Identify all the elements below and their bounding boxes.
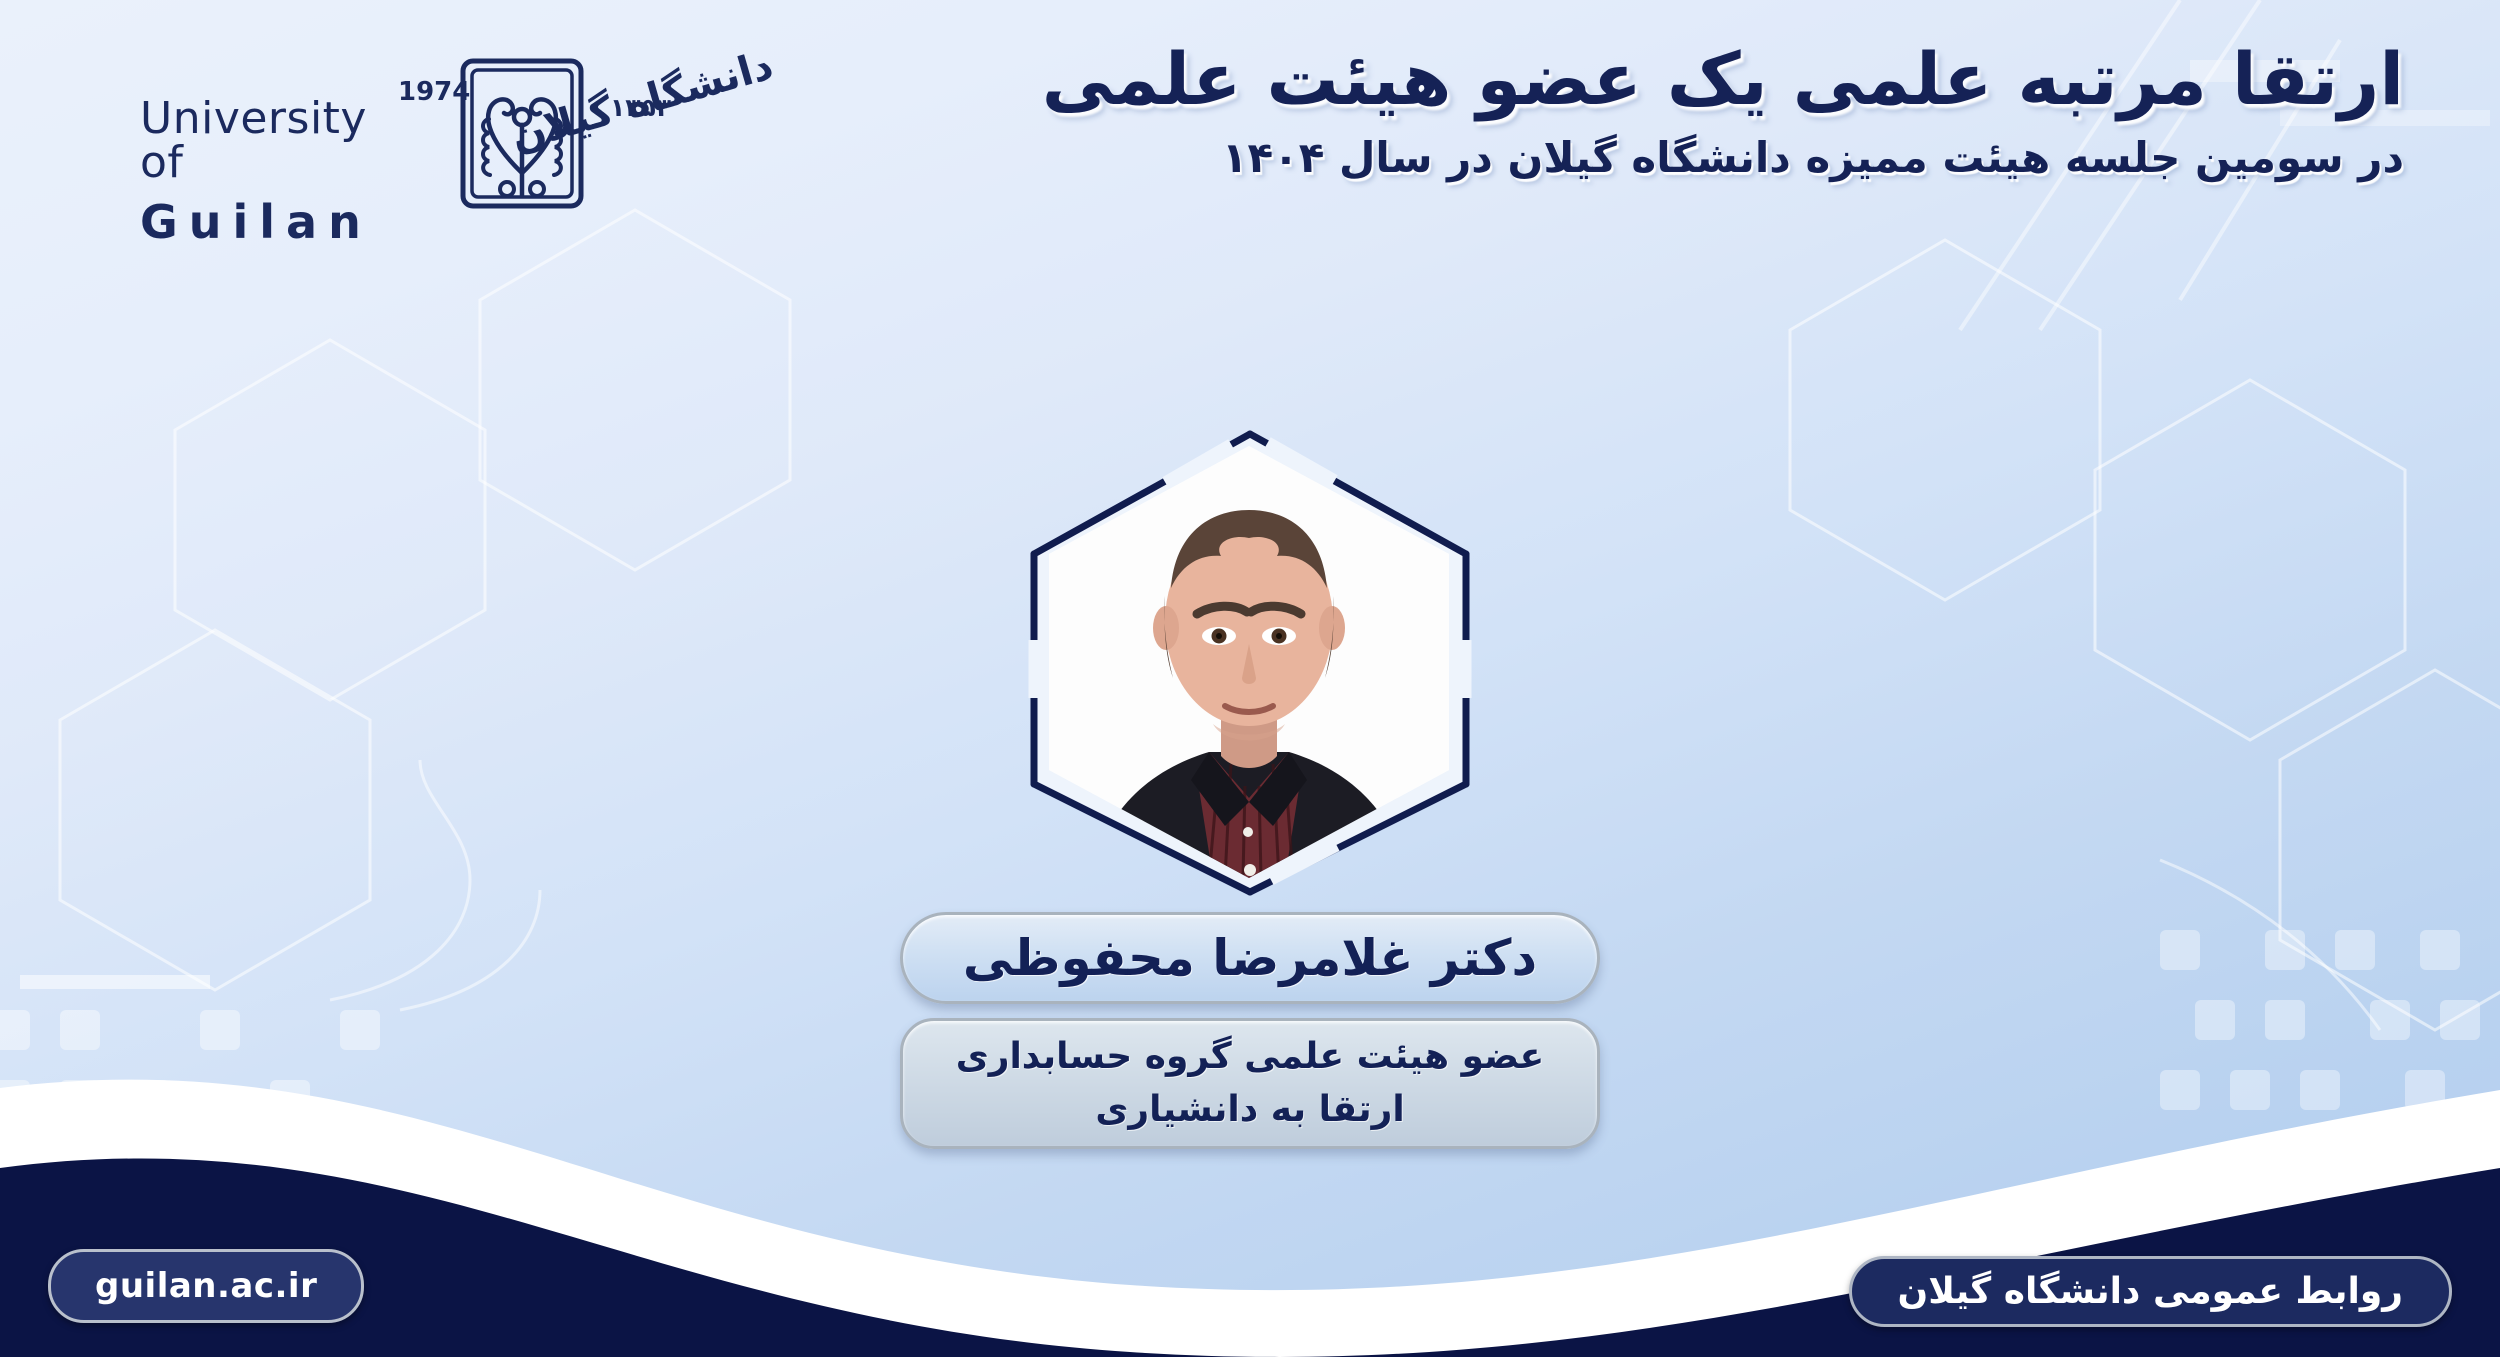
person-badges: دکتر غلامرضا محفوظی عضو هیئت علمی گروه ح…	[900, 912, 1600, 1149]
page-title: ارتقا مرتبه علمی یک عضو هیئت علمی	[924, 34, 2404, 124]
hexagon-border-icon	[1025, 428, 1475, 898]
website-url: guilan.ac.ir	[95, 1266, 317, 1306]
poster-canvas: University of Guilan 1974 ۱۳۵۳ دانشگاه گ…	[0, 0, 2500, 1357]
public-relations-badge: روابط عمومی دانشگاه گیلان	[1849, 1256, 2452, 1327]
logo-guilan-line: Guilan	[140, 199, 390, 245]
person-name-badge: دکتر غلامرضا محفوظی	[900, 912, 1600, 1004]
header-titles: ارتقا مرتبه علمی یک عضو هیئت علمی در سوم…	[924, 34, 2404, 187]
person-role-badge: عضو هیئت علمی گروه حسابداری ارتقا به دان…	[900, 1018, 1600, 1149]
dot-grid-right	[2160, 930, 2480, 1240]
poster-header: University of Guilan 1974 ۱۳۵۳ دانشگاه گ…	[0, 0, 2500, 300]
logo-university-line: University of	[140, 97, 390, 185]
person-role-line2: ارتقا به دانشیاری	[1095, 1086, 1404, 1135]
logo-english-text: University of Guilan	[140, 97, 390, 245]
page-subtitle: در سومین جلسه هیئت ممیزه دانشگاه گیلان د…	[924, 130, 2404, 187]
logo-persian-name: دانشگاه گیلان	[573, 42, 807, 241]
person-name: دکتر غلامرضا محفوظی	[963, 929, 1537, 987]
accent-bar	[20, 975, 210, 989]
public-relations-label: روابط عمومی دانشگاه گیلان	[1898, 1271, 2403, 1312]
person-role-line1: عضو هیئت علمی گروه حسابداری	[956, 1033, 1545, 1082]
website-badge[interactable]: guilan.ac.ir	[48, 1249, 364, 1323]
portrait-frame	[1025, 428, 1475, 898]
university-logo: University of Guilan 1974 ۱۳۵۳ دانشگاه گ…	[110, 45, 790, 235]
